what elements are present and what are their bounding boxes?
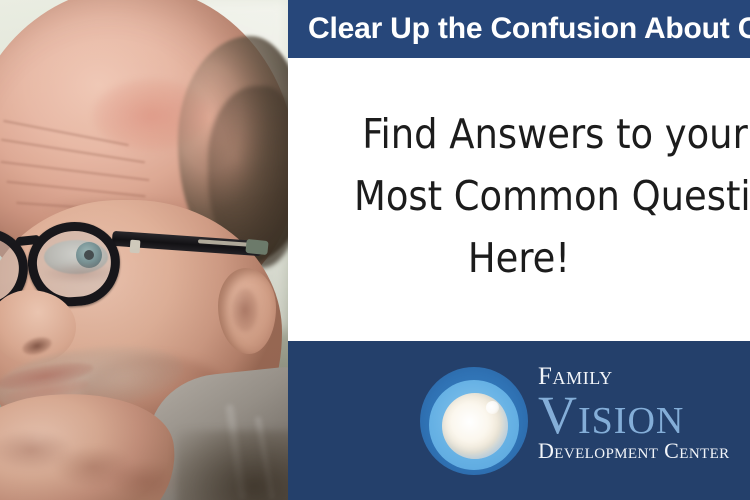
eye-highlight-sphere (442, 393, 508, 459)
logo-wordmark: Family Vision Development Center (538, 363, 750, 463)
photo-stage (0, 0, 288, 500)
cataract-promo-banner: Clear Up the Confusion About Cataracts F… (0, 0, 750, 500)
ear-inner-shadow (232, 288, 258, 332)
portrait-photo (0, 0, 288, 500)
eyeglasses-temple-tip (245, 239, 268, 255)
body-line-2: Most Common Questions (288, 174, 750, 218)
logo-line-development-center: Development Center (538, 439, 750, 463)
logo-line-vision: Vision (538, 388, 750, 442)
eye-circle-icon (420, 367, 528, 475)
body-line-1: Find Answers to your (288, 112, 750, 156)
eye-glint (486, 401, 499, 414)
photo-corner-shadow (176, 430, 288, 500)
headline-bar: Clear Up the Confusion About Cataracts (288, 0, 750, 58)
content-pane: Clear Up the Confusion About Cataracts F… (288, 0, 750, 500)
brand-logo[interactable]: Family Vision Development Center (420, 363, 750, 481)
knuckle-shadow (110, 462, 180, 500)
eyeglasses-hinge (130, 240, 141, 254)
logo-bar: Family Vision Development Center (288, 341, 750, 500)
body-line-3: Here! (288, 236, 750, 280)
headline-text: Clear Up the Confusion About Cataracts (308, 11, 750, 47)
body-copy: Find Answers to your Most Common Questio… (288, 58, 750, 341)
